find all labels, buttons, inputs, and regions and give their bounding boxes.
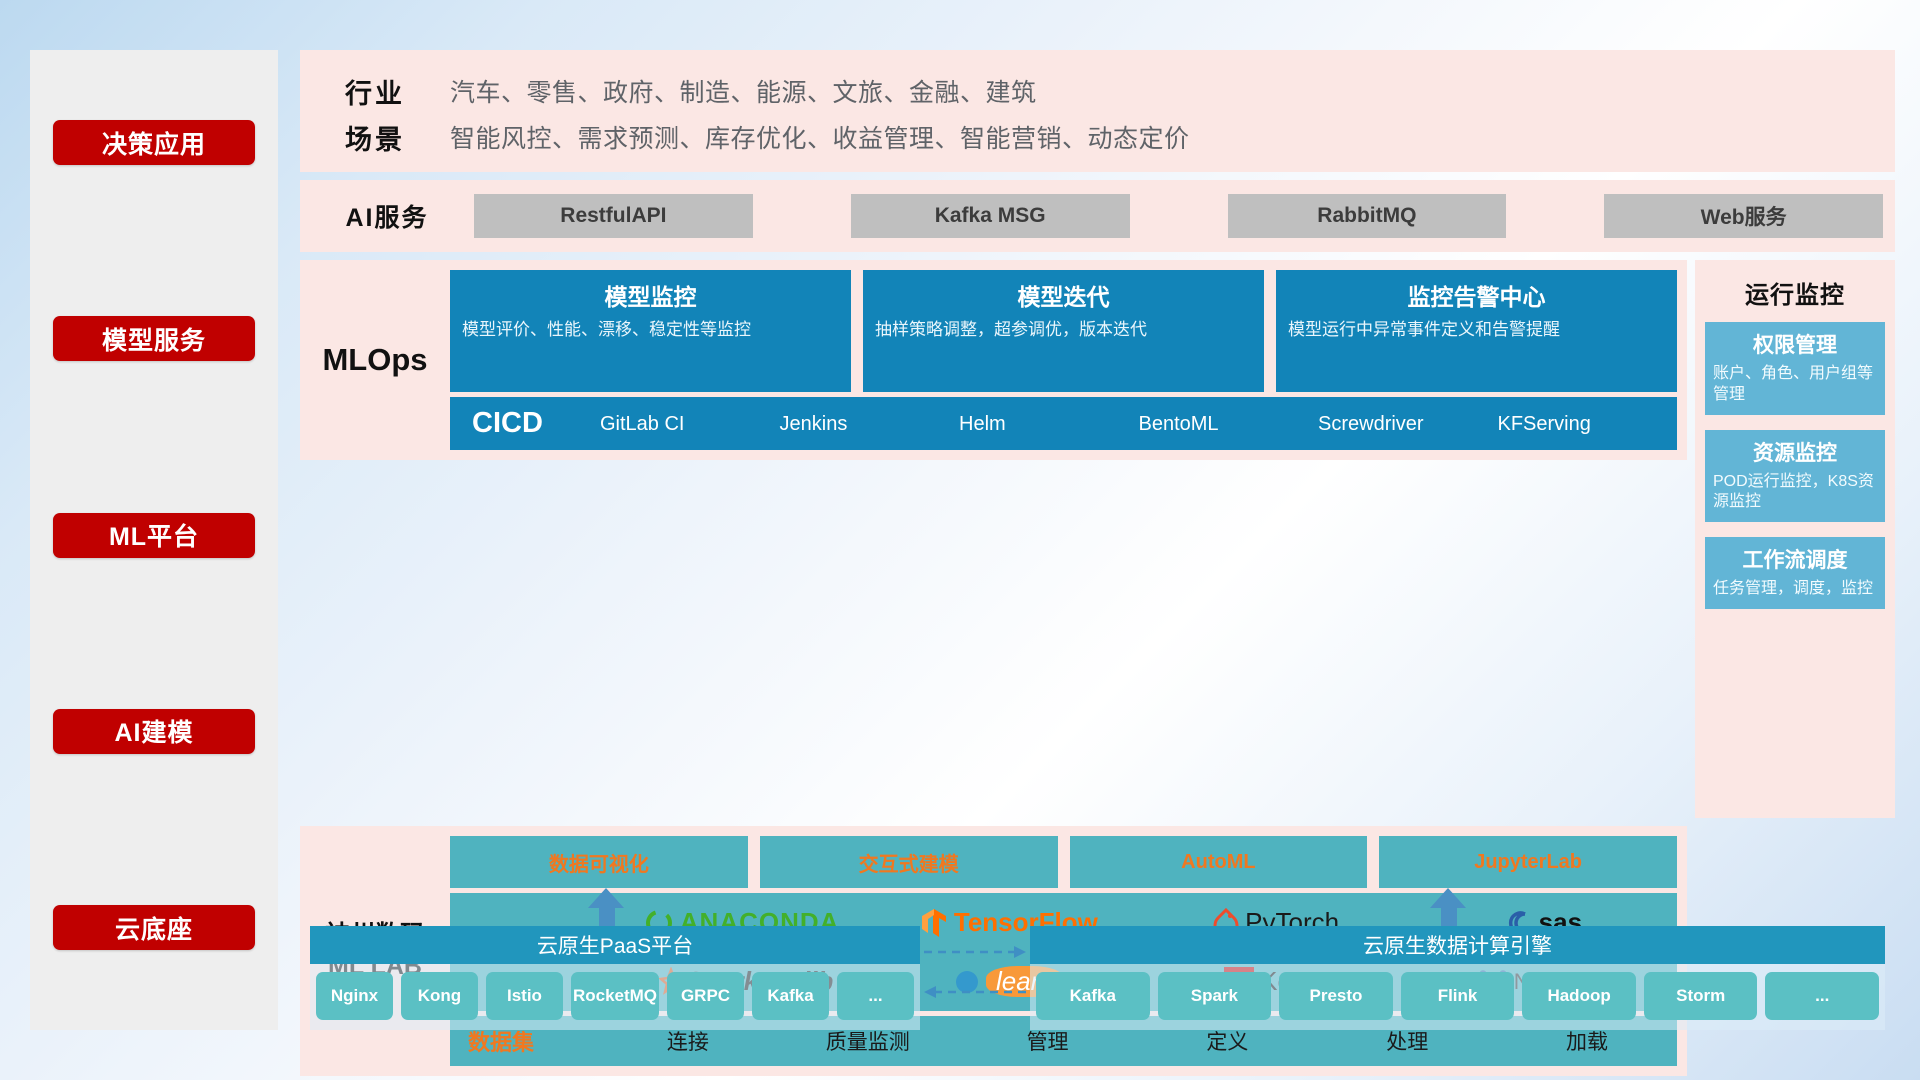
- ml-lab-tool-jupyterlab[interactable]: JupyterLab: [1379, 836, 1677, 888]
- layer-chip-decision-app[interactable]: 决策应用: [53, 120, 255, 165]
- engine-chip-storm[interactable]: Storm: [1644, 972, 1758, 1020]
- paas-chip-rocketmq[interactable]: RocketMQ: [571, 972, 659, 1020]
- paas-platform-title: 云原生PaaS平台: [310, 926, 920, 964]
- industry-label: 行业: [300, 72, 450, 111]
- industry-values: 汽车、零售、政府、制造、能源、文旅、金融、建筑: [450, 73, 1037, 109]
- engine-arrow-stem-icon: [1441, 906, 1457, 926]
- ai-service-chip-rabbitmq[interactable]: RabbitMQ: [1228, 194, 1507, 238]
- scenario-label: 场景: [300, 118, 450, 157]
- monitor-card-permission[interactable]: 权限管理 账户、角色、用户组等管理: [1705, 322, 1885, 415]
- runtime-monitor-title: 运行监控: [1745, 275, 1845, 310]
- dataset-item-process[interactable]: 处理: [1317, 1026, 1497, 1056]
- paas-chip-more[interactable]: ...: [837, 972, 914, 1020]
- layer-chip-ai-modeling[interactable]: AI建模: [53, 709, 255, 754]
- ai-service-chip-kafka-msg[interactable]: Kafka MSG: [851, 194, 1130, 238]
- engine-chip-spark[interactable]: Spark: [1158, 972, 1272, 1020]
- mlops-card-title: 监控告警中心: [1288, 278, 1665, 312]
- mlops-label: MLOps: [300, 270, 450, 450]
- cicd-row: CICD GitLab CI Jenkins Helm BentoML Scre…: [450, 397, 1677, 450]
- cicd-title: CICD: [472, 407, 600, 440]
- layer-chip-model-service[interactable]: 模型服务: [53, 316, 255, 361]
- layer-chip-label: 决策应用: [102, 125, 206, 161]
- ml-lab-tool-interactive-modeling[interactable]: 交互式建模: [760, 836, 1058, 888]
- ai-service-chip-list: RestfulAPI Kafka MSG RabbitMQ Web服务: [462, 194, 1883, 238]
- mlops-card-desc: 抽样策略调整，超参调优，版本迭代: [875, 319, 1252, 342]
- paas-chip-kafka[interactable]: Kafka: [752, 972, 829, 1020]
- layer-chip-label: 云底座: [115, 910, 193, 946]
- rail-spacer: [30, 558, 278, 709]
- mlops-card-desc: 模型运行中异常事件定义和告警提醒: [1288, 319, 1665, 342]
- paas-chip-nginx[interactable]: Nginx: [316, 972, 393, 1020]
- industry-row: 行业 汽车、零售、政府、制造、能源、文旅、金融、建筑: [300, 68, 1895, 114]
- cicd-item-screwdriver[interactable]: Screwdriver: [1318, 414, 1498, 434]
- data-compute-engine-block: 云原生数据计算引擎 Kafka Spark Presto Flink Hadoo…: [1030, 926, 1885, 1030]
- rail-spacer: [30, 165, 278, 316]
- layer-chip-cloud-base[interactable]: 云底座: [53, 905, 255, 950]
- layer-chip-label: 模型服务: [102, 321, 206, 357]
- mlops-card-model-monitoring[interactable]: 模型监控 模型评价、性能、漂移、稳定性等监控: [450, 270, 851, 392]
- ai-service-band: AI服务 RestfulAPI Kafka MSG RabbitMQ Web服务: [300, 180, 1895, 252]
- scenario-values: 智能风控、需求预测、库存优化、收益管理、智能营销、动态定价: [450, 119, 1190, 155]
- paas-arrow-stem-icon: [599, 906, 615, 926]
- mlops-card-title: 模型迭代: [875, 278, 1252, 312]
- rail-spacer: [30, 361, 278, 512]
- paas-arrow-head-icon: [588, 888, 624, 908]
- engine-chip-flink[interactable]: Flink: [1401, 972, 1515, 1020]
- monitor-card-title: 权限管理: [1713, 329, 1877, 359]
- paas-platform-block: 云原生PaaS平台 Nginx Kong Istio RocketMQ GRPC…: [310, 926, 920, 1030]
- data-compute-engine-title: 云原生数据计算引擎: [1030, 926, 1885, 964]
- dataset-item-define[interactable]: 定义: [1137, 1026, 1317, 1056]
- ml-lab-tool-data-visualization[interactable]: 数据可视化: [450, 836, 748, 888]
- engine-chip-more[interactable]: ...: [1765, 972, 1879, 1020]
- engine-chip-kafka[interactable]: Kafka: [1036, 972, 1150, 1020]
- layer-chip-ml-platform[interactable]: ML平台: [53, 513, 255, 558]
- mlops-card-alert-center[interactable]: 监控告警中心 模型运行中异常事件定义和告警提醒: [1276, 270, 1677, 392]
- mlops-monitor-row: MLOps 模型监控 模型评价、性能、漂移、稳定性等监控 模型迭代 抽样策略调整…: [300, 260, 1895, 818]
- dataset-item-list: 连接 质量监测 管理 定义 处理 加载: [598, 1026, 1677, 1056]
- mlops-card-title: 模型监控: [462, 278, 839, 312]
- paas-chip-grpc[interactable]: GRPC: [667, 972, 744, 1020]
- paas-chip-list: Nginx Kong Istio RocketMQ GRPC Kafka ...: [310, 964, 920, 1030]
- industry-scenario-band: 行业 汽车、零售、政府、制造、能源、文旅、金融、建筑 场景 智能风控、需求预测、…: [300, 50, 1895, 172]
- monitor-card-title: 工作流调度: [1713, 544, 1877, 574]
- runtime-monitor-panel: 运行监控 权限管理 账户、角色、用户组等管理 资源监控 POD运行监控，K8S资…: [1695, 260, 1895, 818]
- rail-spacer: [30, 754, 278, 905]
- dataset-item-connect[interactable]: 连接: [598, 1026, 778, 1056]
- engine-chip-list: Kafka Spark Presto Flink Hadoop Storm ..…: [1030, 964, 1885, 1030]
- cicd-item-bentoml[interactable]: BentoML: [1139, 414, 1319, 434]
- cloud-base-row: 云原生PaaS平台 Nginx Kong Istio RocketMQ GRPC…: [300, 898, 1895, 1030]
- monitor-card-workflow[interactable]: 工作流调度 任务管理，调度，监控: [1705, 537, 1885, 609]
- mlops-band: MLOps 模型监控 模型评价、性能、漂移、稳定性等监控 模型迭代 抽样策略调整…: [300, 260, 1687, 460]
- ai-service-label: AI服务: [312, 198, 462, 234]
- mlops-card-model-iteration[interactable]: 模型迭代 抽样策略调整，超参调优，版本迭代: [863, 270, 1264, 392]
- dataset-item-manage[interactable]: 管理: [958, 1026, 1138, 1056]
- layer-rail: 决策应用 模型服务 ML平台 AI建模 云底座: [30, 50, 278, 1030]
- paas-chip-kong[interactable]: Kong: [401, 972, 478, 1020]
- ai-service-chip-web-service[interactable]: Web服务: [1604, 194, 1883, 238]
- cicd-item-kfserving[interactable]: KFServing: [1498, 414, 1678, 434]
- dataset-item-quality-monitor[interactable]: 质量监测: [778, 1026, 958, 1056]
- monitor-card-desc: 任务管理，调度，监控: [1713, 579, 1877, 600]
- scenario-row: 场景 智能风控、需求预测、库存优化、收益管理、智能营销、动态定价: [300, 114, 1895, 160]
- ml-lab-tool-list: 数据可视化 交互式建模 AutoML JupyterLab: [450, 836, 1677, 888]
- cicd-item-gitlab-ci[interactable]: GitLab CI: [600, 414, 780, 434]
- ai-service-chip-restfulapi[interactable]: RestfulAPI: [474, 194, 753, 238]
- bidirectional-arrow-icon: [920, 934, 1030, 1014]
- layer-chip-label: ML平台: [109, 517, 199, 553]
- paas-chip-istio[interactable]: Istio: [486, 972, 563, 1020]
- cicd-item-helm[interactable]: Helm: [959, 414, 1139, 434]
- ml-lab-tool-automl[interactable]: AutoML: [1070, 836, 1368, 888]
- layer-chip-label: AI建模: [114, 713, 193, 749]
- engine-chip-presto[interactable]: Presto: [1279, 972, 1393, 1020]
- cicd-item-list: GitLab CI Jenkins Helm BentoML Screwdriv…: [600, 414, 1677, 434]
- mlops-card-desc: 模型评价、性能、漂移、稳定性等监控: [462, 319, 839, 342]
- cicd-item-jenkins[interactable]: Jenkins: [780, 414, 960, 434]
- engine-arrow-head-icon: [1430, 888, 1466, 908]
- mlops-content: 模型监控 模型评价、性能、漂移、稳定性等监控 模型迭代 抽样策略调整，超参调优，…: [450, 270, 1677, 450]
- monitor-card-desc: 账户、角色、用户组等管理: [1713, 364, 1877, 406]
- dataset-item-load[interactable]: 加载: [1497, 1026, 1677, 1056]
- monitor-card-desc: POD运行监控，K8S资源监控: [1713, 472, 1877, 514]
- engine-chip-hadoop[interactable]: Hadoop: [1522, 972, 1636, 1020]
- monitor-card-resource[interactable]: 资源监控 POD运行监控，K8S资源监控: [1705, 430, 1885, 523]
- architecture-main-column: 行业 汽车、零售、政府、制造、能源、文旅、金融、建筑 场景 智能风控、需求预测、…: [300, 50, 1895, 1030]
- monitor-card-title: 资源监控: [1713, 437, 1877, 467]
- mlops-card-list: 模型监控 模型评价、性能、漂移、稳定性等监控 模型迭代 抽样策略调整，超参调优，…: [450, 270, 1677, 392]
